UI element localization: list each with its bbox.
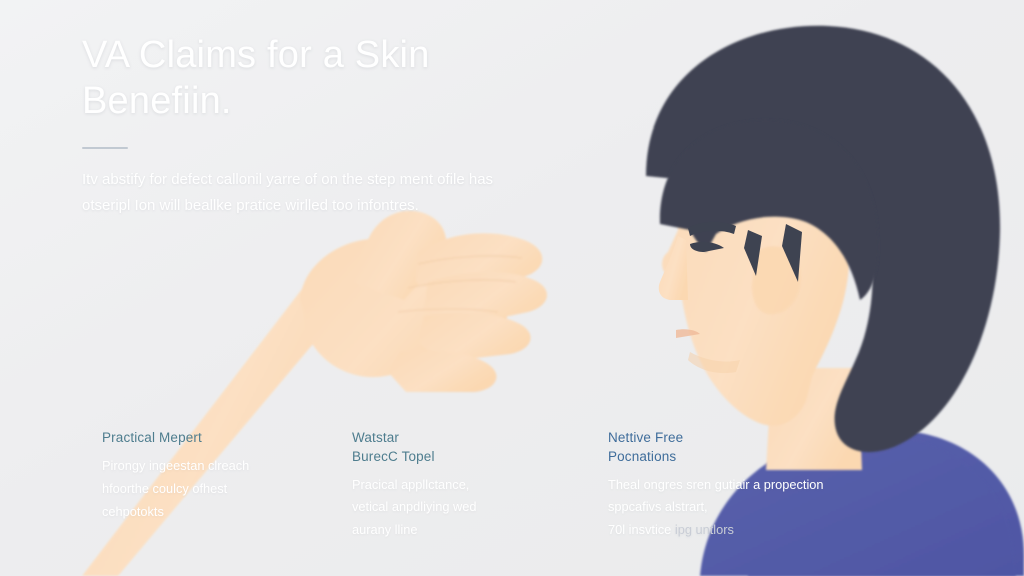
feature-card-title-line-2: Pocnations <box>608 449 676 464</box>
page-title-line-1: VA Claims for a Skin <box>82 34 430 76</box>
title-divider <box>82 147 128 149</box>
feature-card-title-line-1: Watstar <box>352 430 399 445</box>
hero-copy-block: VA Claims for a Skin Benefiin. Itv absti… <box>82 32 642 218</box>
page-subtitle: Itv abstify for defect callonil yarre of… <box>82 167 612 219</box>
feature-card-body-line-3: 70l insvtice <box>608 522 671 537</box>
feature-card-body-line-2: sppcafivs alstrart, <box>608 499 708 514</box>
page-subtitle-line-1: Itv abstify for defect callonil yarre of… <box>82 171 493 188</box>
feature-card-title-line-2: BurecC Topel <box>352 449 435 464</box>
feature-card-title-line-1: Practical Mepert <box>102 430 202 445</box>
feature-card-body: Pracical appllctance, vetical anpdliying… <box>352 474 582 542</box>
feature-card-body-line-1: Pracical appllctance, <box>352 477 469 492</box>
slide-canvas: VA Claims for a Skin Benefiin. Itv absti… <box>0 0 1024 576</box>
feature-card-nettive-free-pocnations[interactable]: Nettive Free Pocnations Theal ongres sre… <box>608 429 938 542</box>
feature-card-body-line-2: hfoorthe coulcy ofhest <box>102 481 227 496</box>
feature-card-body-line-2: vetical anpdliying wed <box>352 499 477 514</box>
feature-card-body-line-1: Pirongy ingeestan clreach <box>102 458 249 473</box>
feature-card-body: Pirongy ingeestan clreach hfoorthe coulc… <box>102 455 326 523</box>
feature-card-body-line-3b: ipg untlors <box>675 522 734 537</box>
feature-card-row: Practical Mepert Pirongy ingeestan clrea… <box>0 429 1024 542</box>
page-subtitle-line-2: otseripl Ion will beallke pratice wirlle… <box>82 197 419 214</box>
feature-card-title: Nettive Free Pocnations <box>608 429 938 466</box>
feature-card-title: Practical Mepert <box>102 429 326 448</box>
page-title-line-2: Benefiin. <box>82 80 232 122</box>
feature-card-body-line-3: cehpotokts <box>102 504 164 519</box>
feature-card-body-line-3: aurany lline <box>352 522 417 537</box>
feature-card-body: Theal ongres sren gutiair a propection s… <box>608 474 938 542</box>
feature-card-body-line-1: Theal ongres sren gutiair a propection <box>608 477 824 492</box>
feature-card-title: Watstar BurecC Topel <box>352 429 582 466</box>
page-title: VA Claims for a Skin Benefiin. <box>82 32 642 125</box>
feature-card-watstar-burecc-topel[interactable]: Watstar BurecC Topel Pracical appllctanc… <box>352 429 608 542</box>
feature-card-practical-mepert[interactable]: Practical Mepert Pirongy ingeestan clrea… <box>102 429 352 542</box>
feature-card-title-line-1: Nettive Free <box>608 430 683 445</box>
